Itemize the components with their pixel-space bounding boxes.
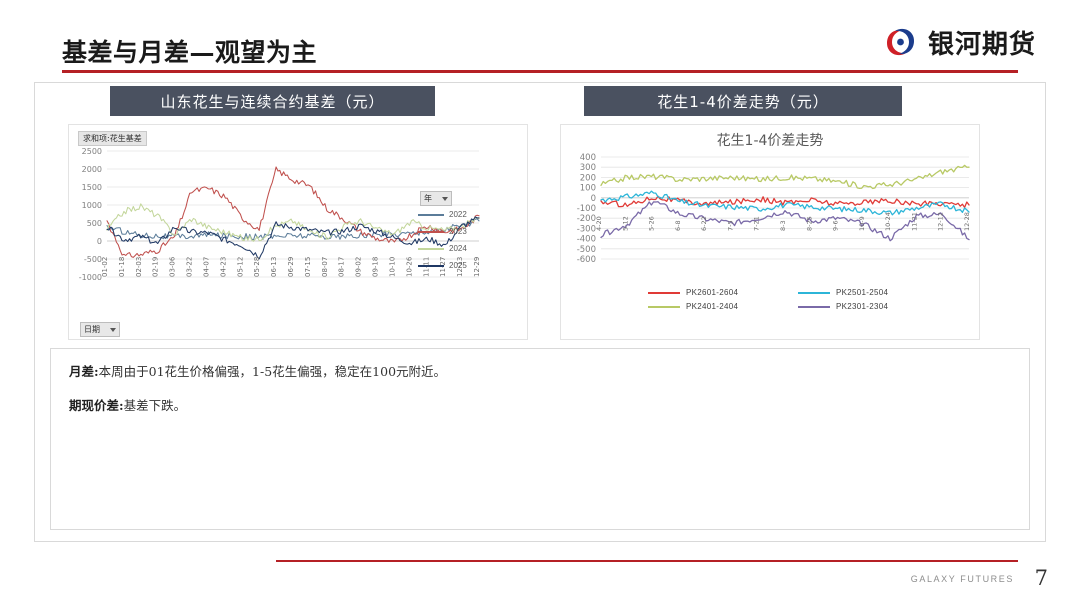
commentary-label: 期现价差: (69, 398, 124, 413)
legend-label: PK2601-2604 (686, 288, 738, 297)
chart-banner-right: 花生1-4价差走势（元） (584, 86, 902, 116)
legend-label: PK2301-2304 (836, 302, 888, 311)
year-filter-dropdown[interactable]: 年 (420, 191, 452, 206)
legend-color-swatch (418, 248, 444, 250)
legend-color-swatch (418, 214, 444, 216)
x-axis-tick: 12-29 (473, 257, 481, 277)
commentary-text: 本周由于01花生价格偏强，1-5花生偏强，稳定在100元附近。 (99, 364, 446, 379)
series-line (601, 165, 969, 188)
y-axis-tick: -600 (577, 255, 596, 265)
commentary-label: 月差: (69, 364, 99, 379)
brand-name: 银河期货 (928, 24, 1036, 61)
basis-chart-legend: 2022202320242025 (418, 206, 467, 274)
chart-banner-left: 山东花生与连续合约基差（元） (110, 86, 435, 116)
y-axis-tick: 0 (591, 194, 596, 204)
chevron-down-icon (110, 328, 116, 332)
y-axis-tick: -300 (577, 224, 596, 234)
x-axis-tick: 12-12 (937, 212, 945, 231)
x-axis-tick: 03-06 (169, 256, 177, 277)
x-axis-tick: 02-03 (135, 257, 143, 277)
slide-header: 基差与月差—观望为主 银河期货 (0, 0, 1080, 78)
x-axis-tick: 04-23 (219, 257, 227, 277)
y-axis-tick: 500 (87, 219, 102, 228)
y-axis-tick: -200 (577, 214, 596, 224)
y-axis-tick: 200 (580, 173, 596, 183)
commentary-line: 期现价差:基差下跌。 (69, 397, 1011, 415)
x-axis-tick: 05-12 (236, 257, 244, 277)
x-axis-tick: 5-26 (648, 216, 656, 231)
y-axis-tick: 400 (580, 153, 596, 163)
y-axis-tick: 100 (580, 184, 596, 194)
brand-lockup: 银河期货 (883, 24, 1036, 61)
legend-item[interactable]: 2023 (418, 223, 467, 240)
legend-item[interactable]: 2022 (418, 206, 467, 223)
page-title: 基差与月差—观望为主 (62, 33, 317, 69)
x-axis-tick: 02-19 (152, 257, 160, 277)
legend-item[interactable]: PK2601-2604 (648, 288, 798, 297)
y-axis-tick: 300 (580, 163, 596, 173)
x-axis-tick: 10-10 (389, 257, 397, 277)
y-axis-tick: 2500 (82, 147, 102, 156)
x-axis-tick: 10-9 (858, 216, 866, 231)
x-axis-tick: 06-13 (270, 257, 278, 277)
chevron-down-icon (442, 197, 448, 201)
x-axis-tick: 08-17 (338, 257, 346, 277)
x-axis-tick: 9-6 (832, 220, 840, 231)
x-axis-tick: 6-8 (674, 220, 682, 231)
x-axis-tick: 07-15 (304, 257, 312, 277)
legend-label: 2025 (449, 261, 467, 270)
legend-color-swatch (418, 231, 444, 233)
x-axis-tick: 05-28 (253, 257, 261, 277)
galaxy-swirl-logo-icon (883, 27, 919, 59)
legend-label: PK2501-2504 (836, 288, 888, 297)
x-axis-tick: 01-18 (118, 257, 126, 277)
legend-color-swatch (798, 306, 830, 308)
x-axis-tick: 8-25 (805, 216, 813, 231)
footer-accent-rule (276, 560, 1018, 562)
x-axis-tick: 6-22 (700, 216, 708, 231)
y-axis-tick: 1000 (82, 201, 102, 210)
x-axis-tick: 10-24 (884, 212, 892, 231)
legend-color-swatch (648, 306, 680, 308)
y-axis-tick: 0 (97, 237, 102, 246)
spread-chart-title: 花生1-4价差走势 (560, 130, 980, 150)
x-axis-tick: 01-02 (101, 257, 109, 277)
legend-item[interactable]: PK2401-2404 (648, 302, 798, 311)
x-axis-tick: 04-07 (203, 257, 211, 277)
legend-color-swatch (418, 265, 444, 267)
y-axis-tick: -1000 (79, 273, 102, 282)
x-axis-tick: 10-26 (405, 256, 413, 277)
y-axis-tick: -100 (577, 204, 596, 214)
y-axis-tick: 2000 (82, 165, 102, 174)
legend-label: PK2401-2404 (686, 302, 738, 311)
y-axis-tick: -500 (84, 255, 102, 264)
x-axis-tick: 08-07 (321, 257, 329, 277)
y-axis-tick: -400 (577, 235, 596, 245)
legend-label: 2024 (449, 244, 467, 253)
x-axis-tick: 03-22 (186, 257, 194, 277)
x-axis-tick: 8-3 (779, 220, 787, 231)
x-axis-tick: 7-5 (726, 220, 734, 231)
legend-label: 2022 (449, 210, 467, 219)
legend-color-swatch (798, 292, 830, 294)
x-axis-tick: 5-12 (621, 216, 629, 231)
legend-item[interactable]: 2025 (418, 257, 467, 274)
footer-brand: GALAXY FUTURES (911, 574, 1014, 584)
legend-item[interactable]: PK2301-2304 (798, 302, 948, 311)
spread-chart-legend: PK2601-2604PK2501-2504PK2401-2404PK2301-… (648, 288, 948, 311)
x-axis-tick: 7-21 (753, 216, 761, 231)
commentary-line: 月差:本周由于01花生价格偏强，1-5花生偏强，稳定在100元附近。 (69, 363, 1011, 381)
pivot-field-title: 求和项:花生基差 (78, 131, 147, 146)
date-filter-dropdown[interactable]: 日期 (80, 322, 120, 337)
legend-color-swatch (648, 292, 680, 294)
x-axis-tick: 11-21 (910, 212, 918, 231)
header-accent-rule (62, 70, 1018, 73)
y-axis-tick: 1500 (82, 183, 102, 192)
x-axis-tick: 12-28 (963, 212, 971, 231)
y-axis-tick: -500 (577, 245, 596, 255)
date-filter-label: 日期 (84, 324, 100, 335)
x-axis-tick: 4-20 (595, 216, 603, 231)
commentary-box: 月差:本周由于01花生价格偏强，1-5花生偏强，稳定在100元附近。期现价差:基… (50, 348, 1030, 530)
page-number: 7 (1035, 566, 1048, 590)
legend-item[interactable]: PK2501-2504 (798, 288, 948, 297)
year-filter-label: 年 (424, 193, 432, 204)
x-axis-tick: 06-29 (287, 257, 295, 277)
x-axis-tick: 09-02 (355, 257, 363, 277)
x-axis-tick: 09-18 (372, 257, 380, 277)
legend-item[interactable]: 2024 (418, 240, 467, 257)
commentary-text: 基差下跌。 (124, 398, 187, 413)
legend-label: 2023 (449, 227, 467, 236)
